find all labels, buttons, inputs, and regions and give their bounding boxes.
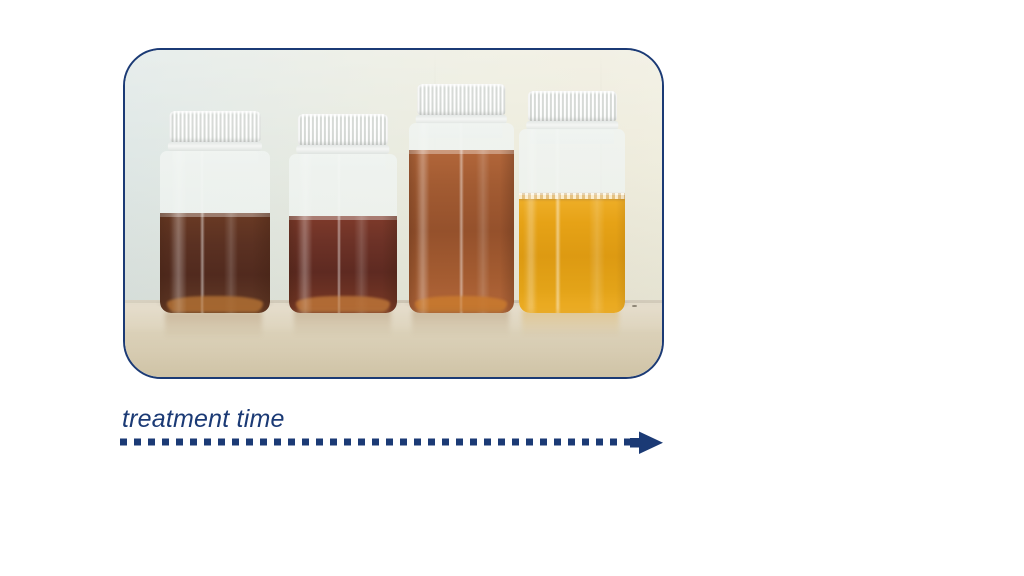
bottle-body [289,154,396,314]
glass-highlight [526,129,539,314]
bench-speck [632,305,637,307]
glass-highlight [200,151,204,313]
treatment-time-arrow [118,430,666,456]
glass-highlight [171,151,186,313]
bottle-cap-lip [168,142,262,151]
liquid-edge-shade [500,150,514,313]
glass-highlight [459,123,463,313]
glass-highlight [589,195,605,313]
dashed-right-arrow-icon [118,430,666,456]
bottle-2 [289,114,396,313]
liquid-edge-shade [616,195,626,313]
glass-highlight [298,154,313,314]
bottle-cap [298,114,388,145]
glass-highlight [555,129,559,314]
bottle-body [409,123,514,313]
bottle-series-photo [123,48,664,379]
bottle-body [519,129,625,314]
glass-highlight [337,154,341,314]
glass-highlight [476,150,490,313]
bottle-body [160,151,270,313]
bottle-reflection [165,312,262,338]
bottle-cap [417,84,504,115]
slide-canvas: treatment time [0,0,1024,576]
bottle-cap [170,111,261,142]
bottle-reflection [522,310,619,336]
glass-highlight [417,123,430,313]
bottle-cap-lip [296,145,389,154]
bottle-3 [409,84,514,313]
bottle-reflection [294,310,391,336]
bottle-1 [160,111,270,314]
bottle-4 [519,91,625,313]
arrow-head [630,432,663,455]
bottle-cap [528,91,616,121]
photo-inner [125,50,662,377]
bottle-reflection [412,310,509,336]
